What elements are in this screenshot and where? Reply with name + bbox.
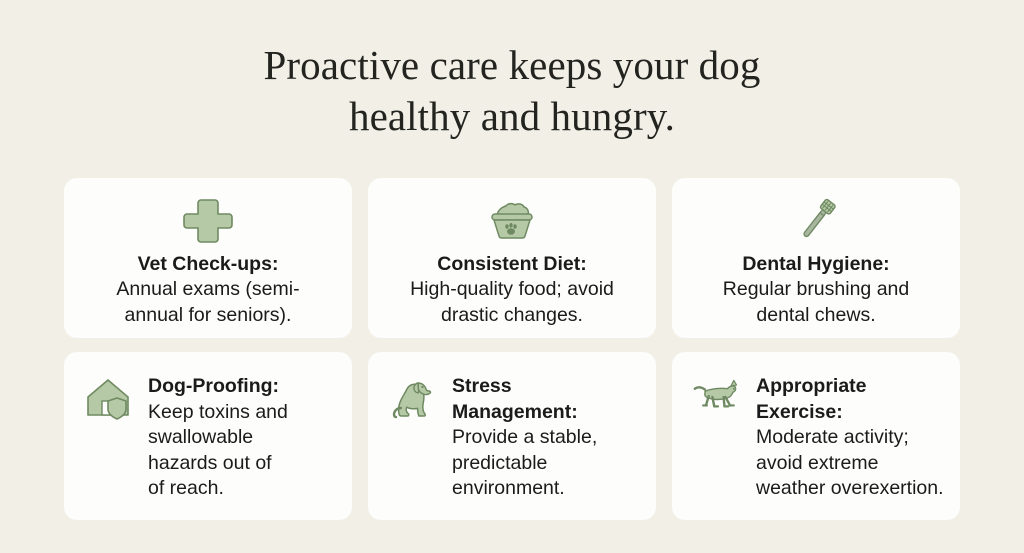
infographic-page: Proactive care keeps your dog healthy an… [0, 0, 1024, 553]
card-stress-management-text: Stress Management: Provide a stable, pre… [452, 374, 642, 502]
card-body-line: avoid extreme [756, 451, 946, 477]
sitting-dog-icon [388, 375, 440, 427]
card-body-line: High-quality food; avoid [410, 277, 614, 303]
card-dog-proofing[interactable]: Dog-Proofing: Keep toxins and swallowabl… [64, 352, 352, 520]
dog-food-bowl-icon [484, 192, 540, 250]
card-body-line: Regular brushing and [723, 277, 909, 303]
card-body-line: environment. [452, 476, 642, 502]
page-title: Proactive care keeps your dog healthy an… [0, 40, 1024, 142]
card-body-line: Keep toxins and [148, 400, 338, 426]
page-title-line-1: Proactive care keeps your dog [0, 40, 1024, 91]
care-tips-grid: Vet Check-ups: Annual exams (semi- annua… [64, 178, 960, 520]
card-appropriate-exercise[interactable]: Appropriate Exercise: Moderate activity;… [672, 352, 960, 520]
card-heading: Dental Hygiene: [723, 252, 909, 278]
card-body-line: of reach. [148, 476, 338, 502]
card-heading: Vet Check-ups: [116, 252, 299, 278]
card-body-line: hazards out of [148, 451, 338, 477]
card-heading: Stress [452, 374, 642, 400]
card-stress-management[interactable]: Stress Management: Provide a stable, pre… [368, 352, 656, 520]
card-body-line: dental chews. [723, 303, 909, 329]
card-dental-hygiene-text: Dental Hygiene: Regular brushing and den… [723, 252, 909, 329]
card-heading: Dog-Proofing: [148, 374, 338, 400]
card-heading: Appropriate [756, 374, 946, 400]
card-body-line: drastic changes. [410, 303, 614, 329]
card-dental-hygiene[interactable]: Dental Hygiene: Regular brushing and den… [672, 178, 960, 338]
card-body-line: Annual exams (semi- [116, 277, 299, 303]
card-heading: Management: [452, 400, 642, 426]
card-heading: Exercise: [756, 400, 946, 426]
card-dog-proofing-text: Dog-Proofing: Keep toxins and swallowabl… [148, 374, 338, 502]
card-appropriate-exercise-text: Appropriate Exercise: Moderate activity;… [756, 374, 946, 502]
card-body-line: Provide a stable, [452, 425, 642, 451]
card-consistent-diet[interactable]: Consistent Diet: High-quality food; avoi… [368, 178, 656, 338]
card-body-line: predictable [452, 451, 642, 477]
running-dog-icon [692, 375, 744, 427]
card-body-line: Moderate activity; [756, 425, 946, 451]
card-heading: Consistent Diet: [410, 252, 614, 278]
house-shield-icon [84, 375, 136, 427]
card-body-line: weather overexertion. [756, 476, 946, 502]
card-body-line: swallowable [148, 425, 338, 451]
card-consistent-diet-text: Consistent Diet: High-quality food; avoi… [410, 252, 614, 329]
page-title-line-2: healthy and hungry. [0, 91, 1024, 142]
medical-cross-icon [182, 192, 234, 250]
toothbrush-icon [789, 192, 843, 250]
card-vet-checkups[interactable]: Vet Check-ups: Annual exams (semi- annua… [64, 178, 352, 338]
card-body-line: annual for seniors). [116, 303, 299, 329]
card-vet-checkups-text: Vet Check-ups: Annual exams (semi- annua… [116, 252, 299, 329]
